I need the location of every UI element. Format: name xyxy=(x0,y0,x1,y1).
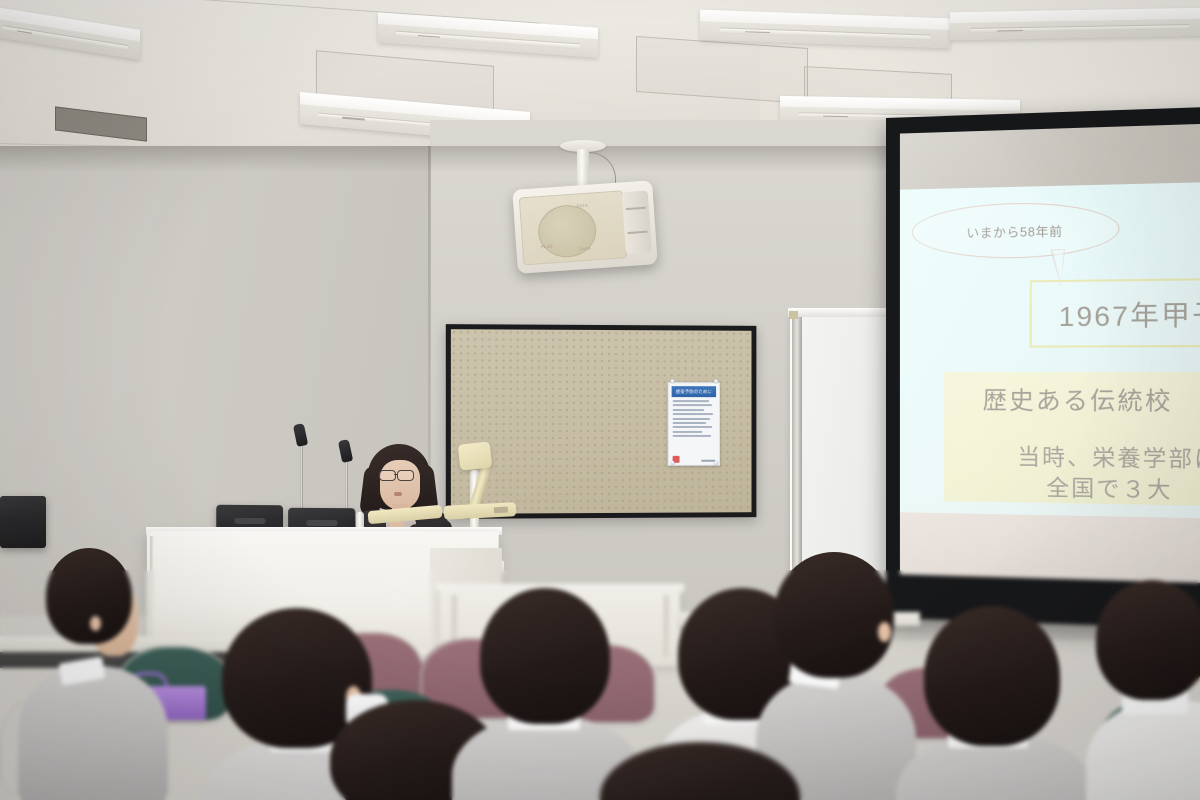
slide-body-line-2: 当時、栄養学部は xyxy=(1017,439,1200,474)
student-right-edge xyxy=(1086,580,1200,800)
slide-bottom-band xyxy=(900,512,1200,583)
slide-body-block: 歴史ある伝統校 は 当時、栄養学部は 全国で３大 xyxy=(944,372,1200,507)
projector-brand-label: PLUS xyxy=(541,243,553,249)
projector-vent xyxy=(622,191,652,255)
ceiling-projector: PLUS DATA DATA xyxy=(512,180,658,274)
student-mid-right-head xyxy=(924,606,1060,746)
projector-front-face: PLUS DATA DATA xyxy=(519,190,627,265)
presenter-mouth xyxy=(394,492,402,496)
student-bottom-center xyxy=(600,742,860,800)
slide-body-line-3: 全国で３大 xyxy=(1046,470,1172,505)
monitor-3-left-edge xyxy=(0,496,46,548)
safety-poster: 感染予防のために xyxy=(668,382,720,466)
projector-model-label-2: DATA xyxy=(579,246,591,252)
student-front-center-head xyxy=(480,588,610,724)
student-front-left xyxy=(18,548,188,800)
student-mid-right xyxy=(896,606,1096,800)
slide-title-text: 1967年甲子園 xyxy=(1032,292,1200,334)
student-back-right-ear xyxy=(878,622,891,642)
student-back-right-head xyxy=(774,552,894,678)
poster-heading-text: 感染予防のために xyxy=(676,389,712,395)
projection-screen-surface: いまから58年前 1967年甲子園 歴史ある伝統校 は 当時、栄養学部は 全国で… xyxy=(900,124,1200,584)
ceiling-light-5 xyxy=(950,8,1200,41)
slide-title-box: 1967年甲子園 xyxy=(1030,278,1200,348)
monitor-2-stand-notch xyxy=(306,520,338,526)
slide-body-line-1: 歴史ある伝統校 は xyxy=(983,380,1200,417)
poster-pin-topright xyxy=(714,379,718,383)
poster-heading-band: 感染予防のために xyxy=(672,386,716,397)
monitor-1-stand-notch xyxy=(234,518,266,524)
student-right-edge-torso xyxy=(1086,700,1200,800)
presenter-face xyxy=(380,460,420,510)
student-right-edge-head xyxy=(1096,580,1200,700)
presenter-glasses-right-lens xyxy=(397,470,414,481)
poster-pin-bottomright xyxy=(714,461,718,465)
presentation-slide: いまから58年前 1967年甲子園 歴史ある伝統校 は 当時、栄養学部は 全国で… xyxy=(900,124,1200,584)
slide-speech-bubble: いまから58年前 xyxy=(912,201,1120,260)
corkboard: 感染予防のために xyxy=(446,324,757,519)
student-front-left-head xyxy=(46,548,132,644)
projector-ceiling-mount xyxy=(560,140,606,188)
student-front-left-ear xyxy=(90,616,101,631)
poster-body xyxy=(673,400,715,457)
projector-model-label: DATA xyxy=(576,203,588,209)
student-bottom-center-head xyxy=(600,742,800,800)
projection-screen: いまから58年前 1967年甲子園 歴史ある伝統校 は 当時、栄養学部は 全国で… xyxy=(886,107,1200,629)
whiteboard-corner-bracket xyxy=(789,311,798,319)
whiteboard-top-trim xyxy=(788,308,894,317)
projector-lens xyxy=(537,203,598,259)
presenter-glasses-bridge xyxy=(394,474,398,475)
lecture-hall-photo: PLUS DATA DATA 感染予防のために xyxy=(0,0,1200,800)
student-front-left-torso xyxy=(18,666,168,800)
poster-footer-line xyxy=(701,460,715,462)
ceiling-access-panel-2 xyxy=(636,36,808,104)
poster-pin-topleft xyxy=(671,379,675,383)
presenter-glasses-left-lens xyxy=(379,470,396,481)
document-camera-head xyxy=(458,441,493,470)
slide-top-band xyxy=(900,124,1200,190)
poster-pin-bottomleft xyxy=(671,461,675,465)
slide-callout-text: いまから58年前 xyxy=(966,220,1062,241)
